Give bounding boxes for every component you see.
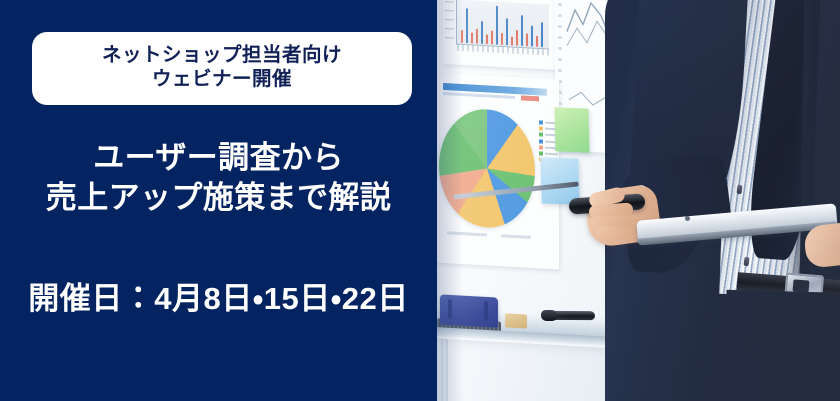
badge-line-1: ネットショップ担当者向け	[102, 44, 342, 68]
right-finger-2	[811, 242, 840, 255]
presenter	[437, 0, 840, 401]
page-title: ユーザー調査から 売上アップ施策まで解説	[0, 138, 437, 219]
left-finger-3	[595, 226, 633, 239]
trousers	[724, 290, 840, 401]
left-text-panel: ネットショップ担当者向け ウェビナー開催 ユーザー調査から 売上アップ施策まで解…	[0, 0, 437, 401]
pointer-stick	[453, 181, 579, 199]
webinar-banner: ネットショップ担当者向け ウェビナー開催 ユーザー調査から 売上アップ施策まで解…	[0, 0, 840, 401]
audience-badge: ネットショップ担当者向け ウェビナー開催	[32, 32, 412, 105]
headline-line-1: ユーザー調査から	[0, 138, 437, 178]
presenter-photo	[437, 0, 840, 401]
event-dates-text: 開催日：4月8日・15日・22日	[28, 281, 409, 316]
event-dates: 開催日：4月8日・15日・22日	[0, 273, 437, 318]
badge-line-2: ウェビナー開催	[152, 68, 292, 92]
headline-line-2: 売上アップ施策まで解説	[0, 178, 437, 218]
